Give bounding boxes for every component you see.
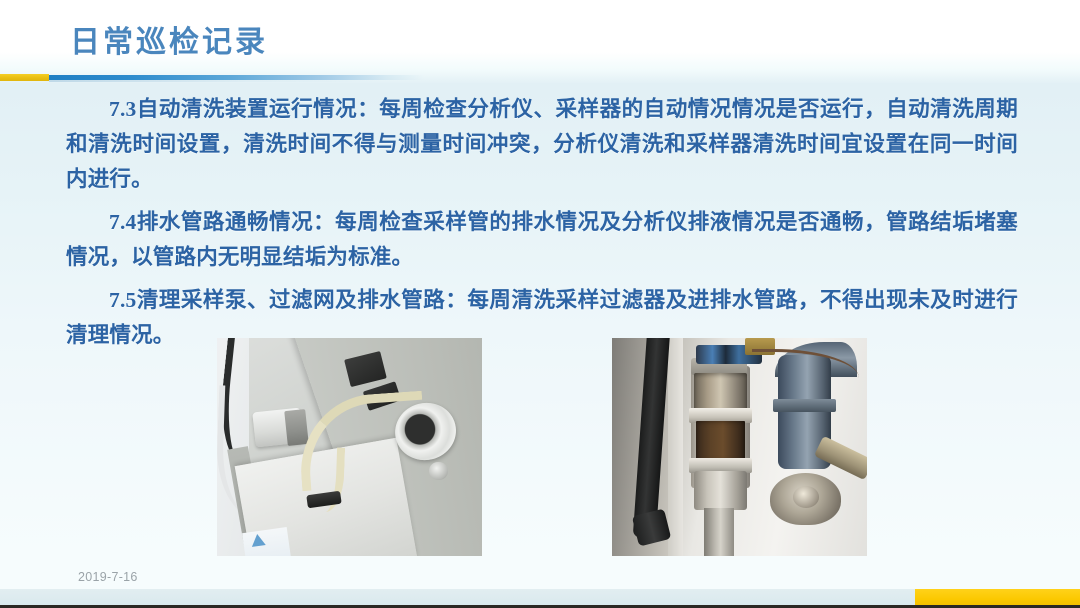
photo-right-valve-hub <box>793 486 819 508</box>
photo-right-filter-sight-glass <box>694 373 748 410</box>
photo-left-screw <box>429 462 448 479</box>
content-body: 7.3自动清洗装置运行情况：每周检查分析仪、采样器的自动情况情况是否运行，自动清… <box>66 92 1018 353</box>
photo-left-nut <box>284 409 309 446</box>
photo-right <box>612 338 867 556</box>
page-title: 日常巡检记录 <box>70 17 268 61</box>
photo-left-warning-label <box>242 527 291 556</box>
header-divider <box>0 73 1080 81</box>
photo-left-content <box>217 338 482 556</box>
paragraph-7-3: 7.3自动清洗装置运行情况：每周检查分析仪、采样器的自动情况情况是否运行，自动清… <box>66 92 1018 197</box>
paragraph-7-4: 7.4排水管路通畅情况：每周检查采样管的排水情况及分析仪排液情况是否通畅，管路结… <box>66 205 1018 275</box>
footer-date: 2019-7-16 <box>78 570 138 584</box>
photo-right-filter-sediment <box>696 421 744 462</box>
divider-shadow <box>49 80 379 82</box>
photo-right-filter-lower-body <box>694 471 748 510</box>
photo-left-warning-triangle-icon <box>251 533 267 547</box>
photo-right-light-strip <box>668 338 683 556</box>
divider-yellow-accent <box>0 74 49 81</box>
photo-left <box>217 338 482 556</box>
photo-right-filter-stem <box>704 508 735 556</box>
paragraph-7-5: 7.5清理采样泵、过滤网及排水管路：每周清洗采样过滤器及进排水管路，不得出现未及… <box>66 283 1018 353</box>
photo-right-pipe-collar <box>773 399 837 412</box>
slide: 日常巡检记录 7.3自动清洗装置运行情况：每周检查分析仪、采样器的自动情况情况是… <box>0 0 1080 608</box>
photo-right-content <box>612 338 867 556</box>
